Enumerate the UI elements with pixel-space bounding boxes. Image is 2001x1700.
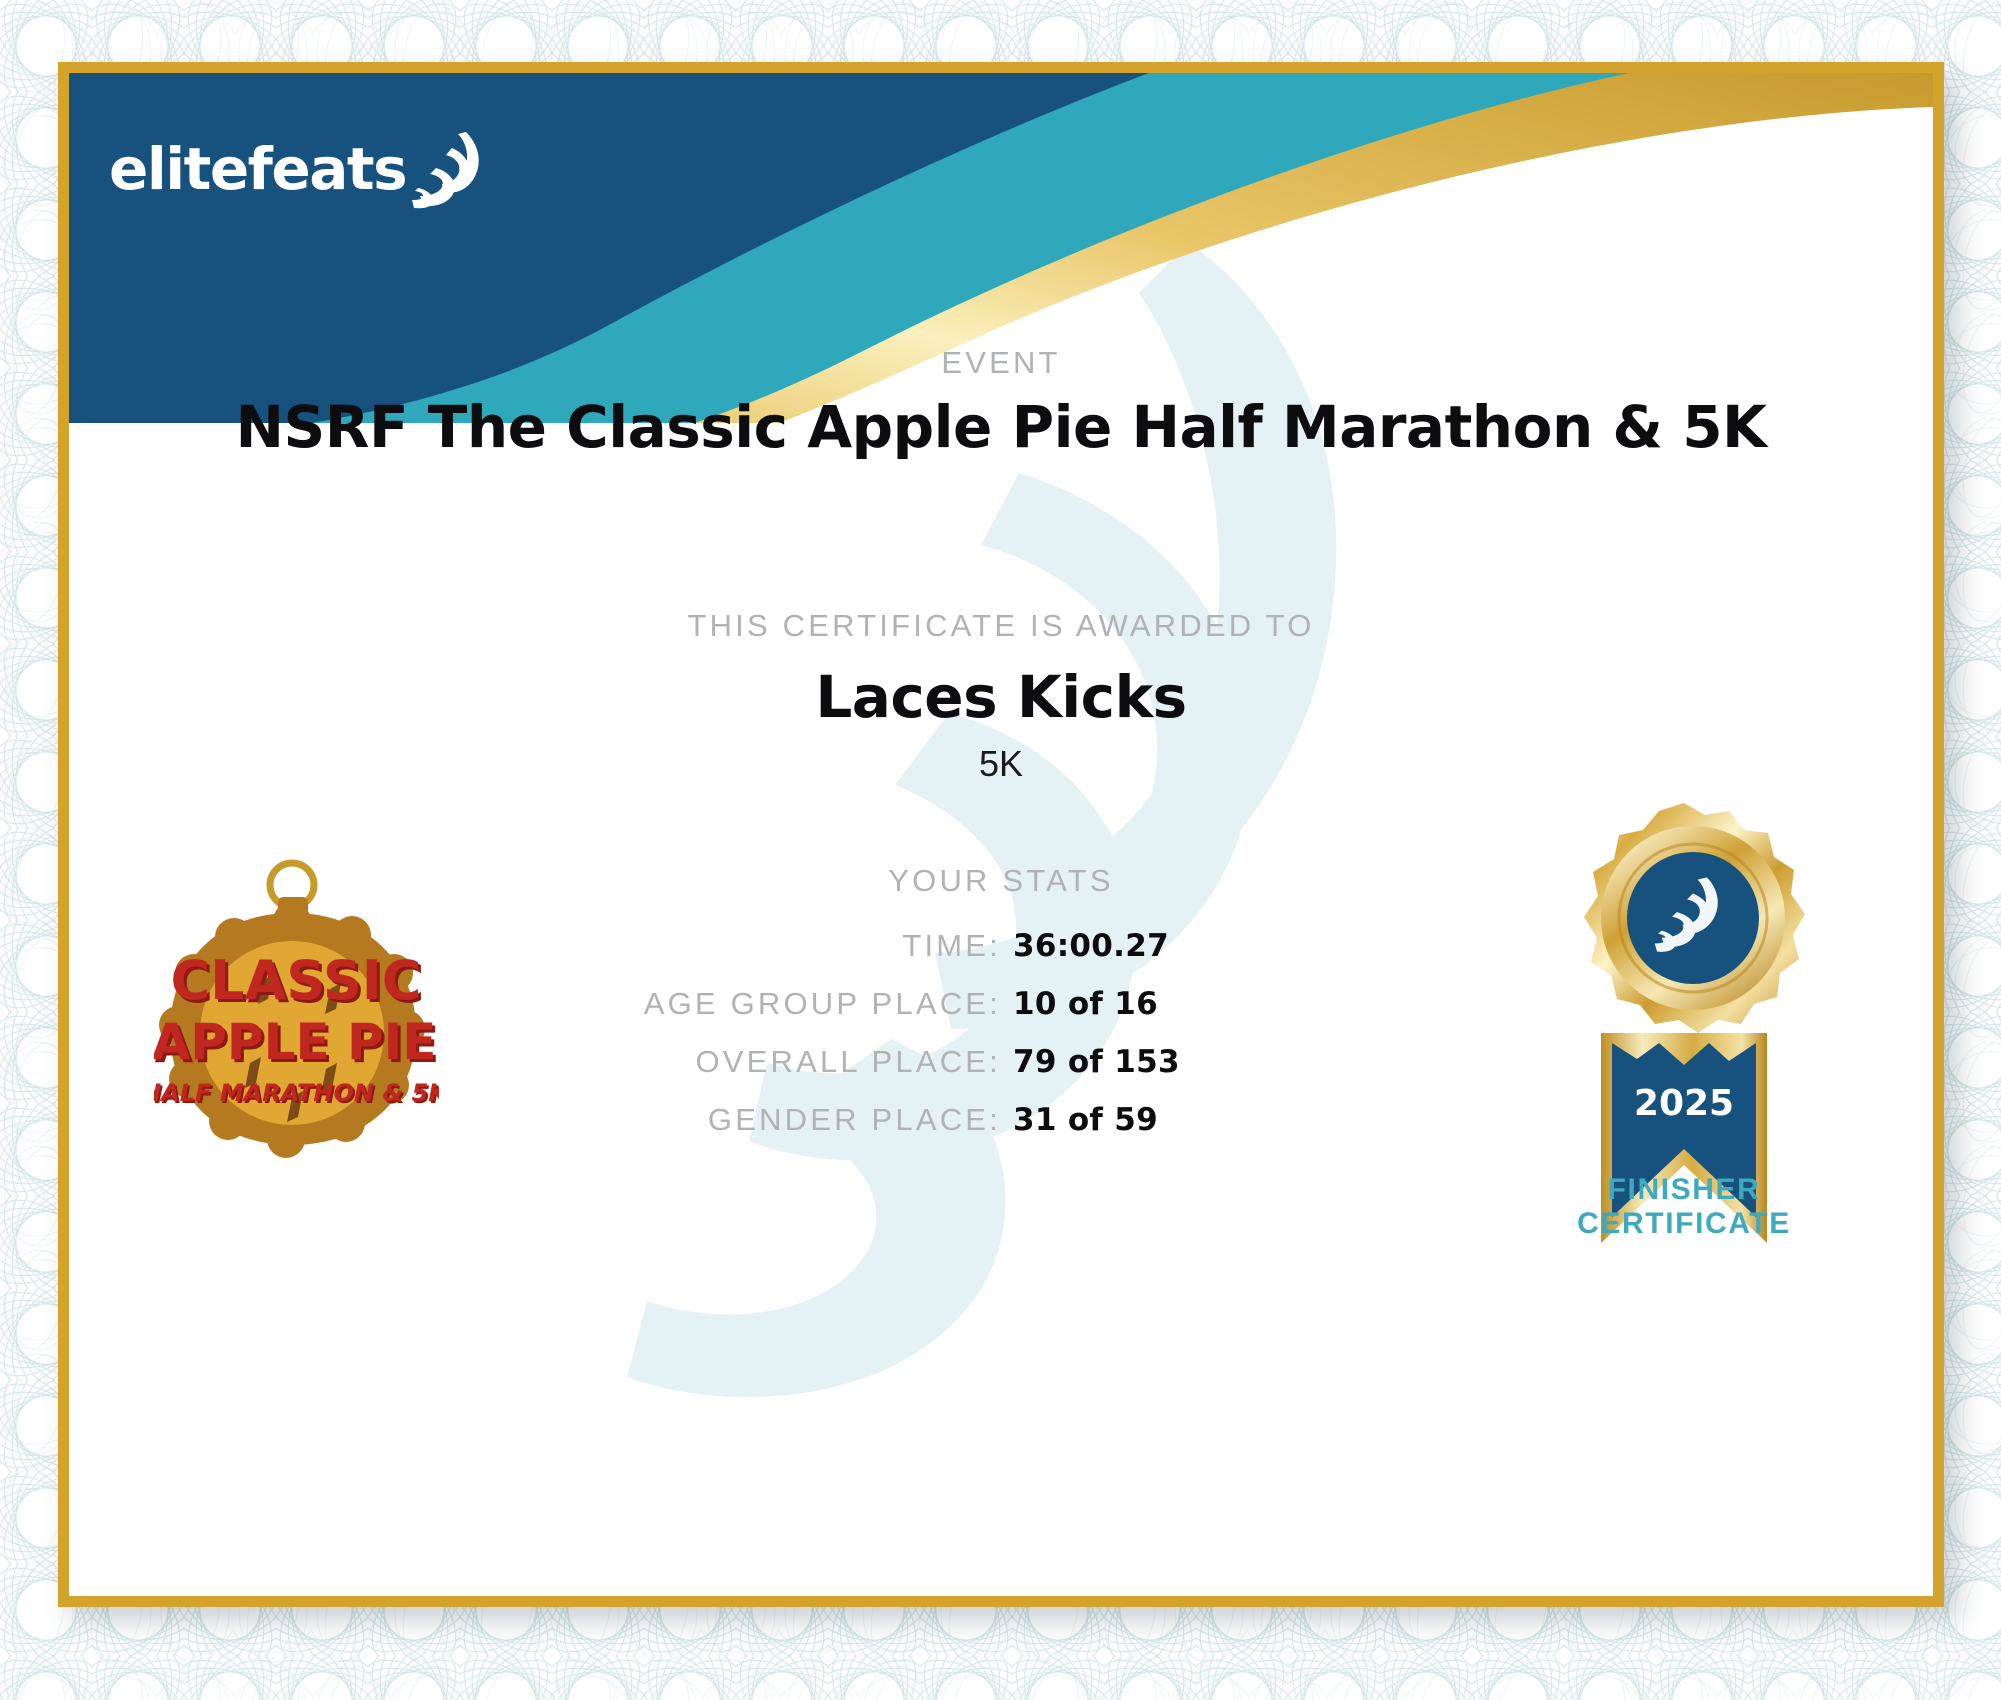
stat-key: OVERALL PLACE: [695,1044,1001,1080]
stat-key: TIME: [902,928,1001,964]
stat-key: AGE GROUP PLACE: [644,986,1001,1022]
event-medal-logo: CLASSIC CLASSIC APPLE PIE APPLE PIE HALF… [154,853,439,1163]
medal-line2: APPLE PIE [154,1013,436,1071]
certificate-content: EVENT NSRF The Classic Apple Pie Half Ma… [69,73,1933,1596]
recipient-name: Laces Kicks [69,663,1933,731]
badge-year: 2025 [1634,1083,1734,1124]
stat-value: 79 of 153 [1013,1044,1180,1080]
recipient-event-distance: 5K [69,743,1933,785]
finisher-caption-line2: CERTIFICATE [1489,1207,1879,1241]
finisher-caption-line1: FINISHER [1489,1173,1879,1207]
certificate-frame: elitefeats EVENT NSRF The Classic Apple … [58,62,1944,1607]
stat-key: GENDER PLACE: [708,1102,1001,1138]
stat-value: 36:00.27 [1013,928,1169,964]
stat-value: 10 of 16 [1013,986,1158,1022]
event-title: NSRF The Classic Apple Pie Half Marathon… [69,393,1933,461]
awarded-to-label: THIS CERTIFICATE IS AWARDED TO [69,608,1933,644]
badge-medallion [1584,803,1805,1033]
stat-value: 31 of 59 [1013,1102,1158,1138]
medal-line1: CLASSIC [171,949,422,1012]
medal-line3: HALF MARATHON & 5K [154,1079,439,1107]
event-label: EVENT [69,345,1933,381]
certificate-inner: elitefeats EVENT NSRF The Classic Apple … [69,73,1933,1596]
finisher-caption: FINISHER CERTIFICATE [1489,1173,1879,1240]
